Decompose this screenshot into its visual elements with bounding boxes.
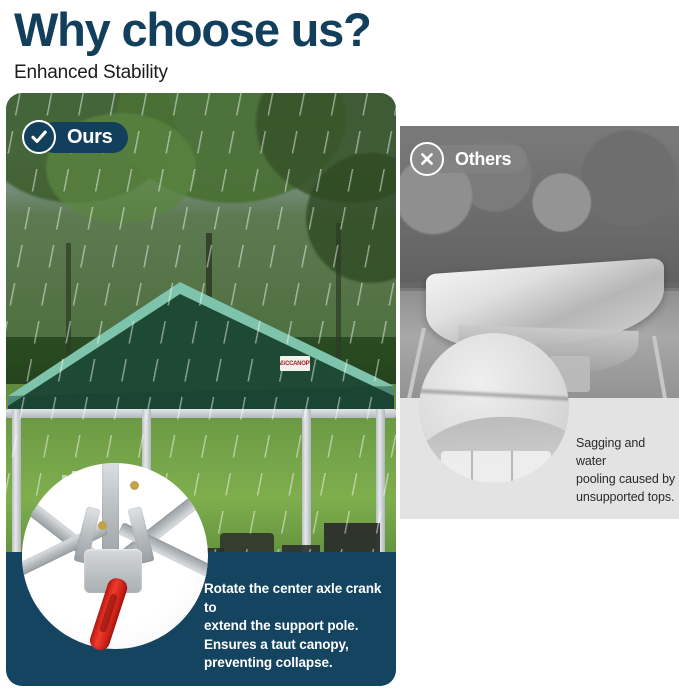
fabric-crease (511, 451, 513, 483)
others-inset-circle (419, 333, 569, 483)
ours-caption-text: Rotate the center axle crank to extend t… (204, 580, 386, 673)
ours-inset-circle (22, 463, 208, 649)
comparison-section: ABCCANOPY (0, 86, 679, 682)
page-title: Why choose us? (14, 2, 679, 58)
frame-leg (12, 409, 21, 563)
others-caption-text: Sagging and water pooling caused by unsu… (576, 434, 676, 506)
header: Why choose us? Enhanced Stability (0, 0, 679, 86)
crank-bolt (130, 481, 139, 490)
page-subtitle: Enhanced Stability (14, 60, 679, 86)
fabric-skirt (441, 451, 551, 483)
comparison-panel-others: Others Sagging and water pooling caused … (400, 126, 679, 649)
brand-logo-badge: ABCCANOPY (280, 356, 310, 371)
check-circle-icon (22, 120, 56, 154)
badge-ours: Ours (22, 120, 128, 154)
frame-leg (302, 409, 311, 561)
x-circle-icon (410, 142, 444, 176)
fabric-seam (419, 388, 569, 401)
badge-others: Others (410, 142, 527, 176)
fabric-crease (471, 451, 473, 483)
crank-bolt (98, 521, 107, 530)
comparison-panel-ours: ABCCANOPY (6, 93, 396, 686)
frame-beam (6, 409, 396, 418)
